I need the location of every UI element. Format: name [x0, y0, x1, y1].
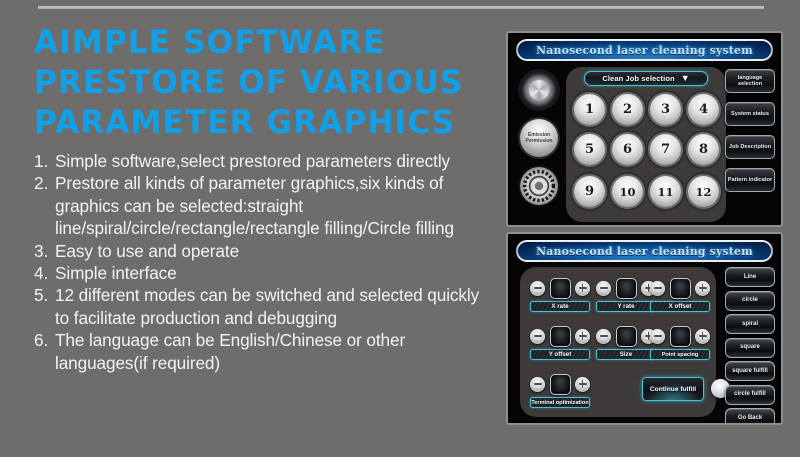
- list-item-number: 3.: [34, 240, 54, 262]
- spinner-row: [596, 325, 656, 347]
- list-item: 5. 12 different modes can be switched an…: [34, 284, 496, 329]
- job-description-button[interactable]: Job Description: [725, 135, 775, 159]
- spinner-size: Size: [596, 325, 656, 360]
- system-status-button[interactable]: System status: [725, 102, 775, 126]
- list-item: 1. Simple software,select prestored para…: [34, 150, 496, 172]
- keypad-button-1[interactable]: 1: [574, 94, 605, 125]
- spinner-x-rate: X rate: [530, 277, 590, 312]
- headline-line-2: PRESTORE OF VARIOUS: [34, 62, 482, 102]
- keypad-button-2[interactable]: 2: [612, 94, 643, 125]
- list-item-text: The language can be English/Chinese or o…: [55, 330, 405, 372]
- decrement-button[interactable]: [596, 281, 611, 296]
- list-item-number: 2.: [34, 172, 54, 194]
- panel-title-plaque-inner: Nanosecond laser cleaning system: [518, 242, 771, 260]
- keypad-button-3[interactable]: 3: [650, 94, 681, 125]
- panel-bottom-side-buttons: Line circle spiral square square fulfill…: [725, 267, 775, 425]
- continue-fulfill-label: Continue fulfill: [650, 386, 696, 393]
- shape-square-fulfill-label: square fulfill: [732, 368, 768, 375]
- increment-button[interactable]: [575, 281, 590, 296]
- page-title: AIMPLE SOFTWARE PRESTORE OF VARIOUS PARA…: [34, 22, 482, 142]
- decrement-button[interactable]: [650, 281, 665, 296]
- list-item: 3. Easy to use and operate: [34, 240, 496, 262]
- control-panel-parameters: Nanosecond laser cleaning system X rate: [506, 232, 783, 425]
- spinner-label: X rate: [551, 303, 568, 310]
- shape-circle-label: circle: [742, 297, 758, 304]
- value-display[interactable]: [550, 374, 571, 395]
- spinner-label-plate: Point spacing: [650, 349, 710, 360]
- decrement-button[interactable]: [530, 377, 545, 392]
- shape-spiral-label: spiral: [742, 321, 758, 328]
- slide-root: AIMPLE SOFTWARE PRESTORE OF VARIOUS PARA…: [0, 0, 800, 457]
- value-display[interactable]: [550, 278, 571, 299]
- decrement-button[interactable]: [530, 329, 545, 344]
- list-item-text: Prestore all kinds of parameter graphics…: [55, 173, 454, 238]
- go-back-button[interactable]: Go Back: [725, 408, 775, 425]
- language-selection-label: language selection: [726, 75, 774, 88]
- spinner-label-plate: Y rate: [596, 301, 656, 312]
- control-panel-keypad: Nanosecond laser cleaning system Emissio…: [506, 31, 783, 227]
- parameter-workarea: X rate Y rate: [520, 267, 716, 417]
- spinner-label: Y rate: [617, 303, 634, 310]
- headline-line-1: AIMPLE SOFTWARE: [34, 22, 482, 62]
- spinner-row: [650, 277, 710, 299]
- list-item: 2. Prestore all kinds of parameter graph…: [34, 172, 496, 239]
- value-display[interactable]: [616, 278, 637, 299]
- spinner-terminal-optimization: Terminal optimization: [530, 373, 590, 408]
- decrement-button[interactable]: [596, 329, 611, 344]
- feature-list: 1. Simple software,select prestored para…: [34, 150, 496, 374]
- list-item: 6. The language can be English/Chinese o…: [34, 329, 496, 374]
- spinner-label-plate: X offset: [650, 301, 710, 312]
- top-divider-rule: [38, 6, 764, 9]
- keypad-button-12[interactable]: 12: [688, 176, 719, 207]
- keypad-button-5[interactable]: 5: [574, 134, 605, 165]
- spinner-y-offset: Y offset: [530, 325, 590, 360]
- spinner-point-spacing: Point spacing: [650, 325, 710, 360]
- list-item-number: 5.: [34, 284, 54, 306]
- value-display[interactable]: [616, 326, 637, 347]
- spinner-row: [530, 277, 590, 299]
- decrement-button[interactable]: [530, 281, 545, 296]
- shape-circle-button[interactable]: circle: [725, 291, 775, 311]
- text-column: AIMPLE SOFTWARE PRESTORE OF VARIOUS PARA…: [34, 22, 496, 374]
- language-selection-button[interactable]: language selection: [725, 69, 775, 93]
- spinner-row: [650, 325, 710, 347]
- spinner-label: Point spacing: [662, 352, 699, 358]
- spinner-row: [530, 325, 590, 347]
- go-back-label: Go Back: [738, 415, 762, 422]
- list-item-text: Simple software,select prestored paramet…: [55, 151, 450, 171]
- job-description-label: Job Description: [729, 144, 771, 150]
- value-display[interactable]: [550, 326, 571, 347]
- increment-button[interactable]: [695, 329, 710, 344]
- keypad-button-9[interactable]: 9: [574, 176, 605, 207]
- keypad-button-6[interactable]: 6: [612, 134, 643, 165]
- keypad-button-8[interactable]: 8: [688, 134, 719, 165]
- spinner-label-plate: Y offset: [530, 349, 590, 360]
- spinner-label: Y offset: [549, 351, 572, 358]
- system-status-label: System status: [731, 111, 769, 117]
- shape-square-button[interactable]: square: [725, 338, 775, 358]
- shape-square-fulfill-button[interactable]: square fulfill: [725, 361, 775, 381]
- increment-button[interactable]: [575, 329, 590, 344]
- list-item-number: 4.: [34, 262, 54, 284]
- shape-line-label: Line: [744, 274, 756, 281]
- spinner-row: [530, 373, 590, 395]
- headline-line-3: PARAMETER GRAPHICS: [34, 102, 482, 142]
- panel-title-text: Nanosecond laser cleaning system: [536, 245, 753, 258]
- keypad-button-4[interactable]: 4: [688, 94, 719, 125]
- list-item-number: 6.: [34, 329, 54, 351]
- shape-line-button[interactable]: Line: [725, 267, 775, 287]
- shape-square-label: square: [740, 344, 760, 351]
- panel-title-plaque: Nanosecond laser cleaning system: [516, 240, 773, 262]
- shape-circle-fulfill-button[interactable]: circle fulfill: [725, 385, 775, 405]
- value-display[interactable]: [670, 326, 691, 347]
- shape-spiral-button[interactable]: spiral: [725, 314, 775, 334]
- list-item-text: Simple interface: [55, 263, 177, 283]
- spinner-x-offset: X offset: [650, 277, 710, 312]
- spinner-label-plate: Size: [596, 349, 656, 360]
- list-item: 4. Simple interface: [34, 262, 496, 284]
- pattern-indicator-label: Pattern indicator: [728, 177, 772, 183]
- pattern-indicator-button[interactable]: Pattern indicator: [725, 168, 775, 192]
- list-item-text: Easy to use and operate: [55, 241, 239, 261]
- increment-button[interactable]: [575, 377, 590, 392]
- spinner-label-plate: X rate: [530, 301, 590, 312]
- spinner-label-plate: Terminal optimization: [530, 397, 590, 408]
- keypad-button-7[interactable]: 7: [650, 134, 681, 165]
- shape-circle-fulfill-label: circle fulfill: [734, 391, 766, 398]
- keypad-button-10[interactable]: 10: [612, 176, 643, 207]
- list-item-number: 1.: [34, 150, 54, 172]
- list-item-text: 12 different modes can be switched and s…: [55, 285, 479, 327]
- spinner-row: [596, 277, 656, 299]
- spinner-y-rate: Y rate: [596, 277, 656, 312]
- keypad-button-11[interactable]: 11: [650, 176, 681, 207]
- continue-fulfill-button[interactable]: Continue fulfill: [642, 377, 704, 401]
- increment-button[interactable]: [695, 281, 710, 296]
- spinner-label: Size: [620, 351, 632, 358]
- decrement-button[interactable]: [650, 329, 665, 344]
- panel-top-side-buttons: language selection System status Job Des…: [725, 69, 775, 201]
- value-display[interactable]: [670, 278, 691, 299]
- spinner-label: X offset: [669, 303, 692, 310]
- spinner-label: Terminal optimization: [531, 400, 588, 406]
